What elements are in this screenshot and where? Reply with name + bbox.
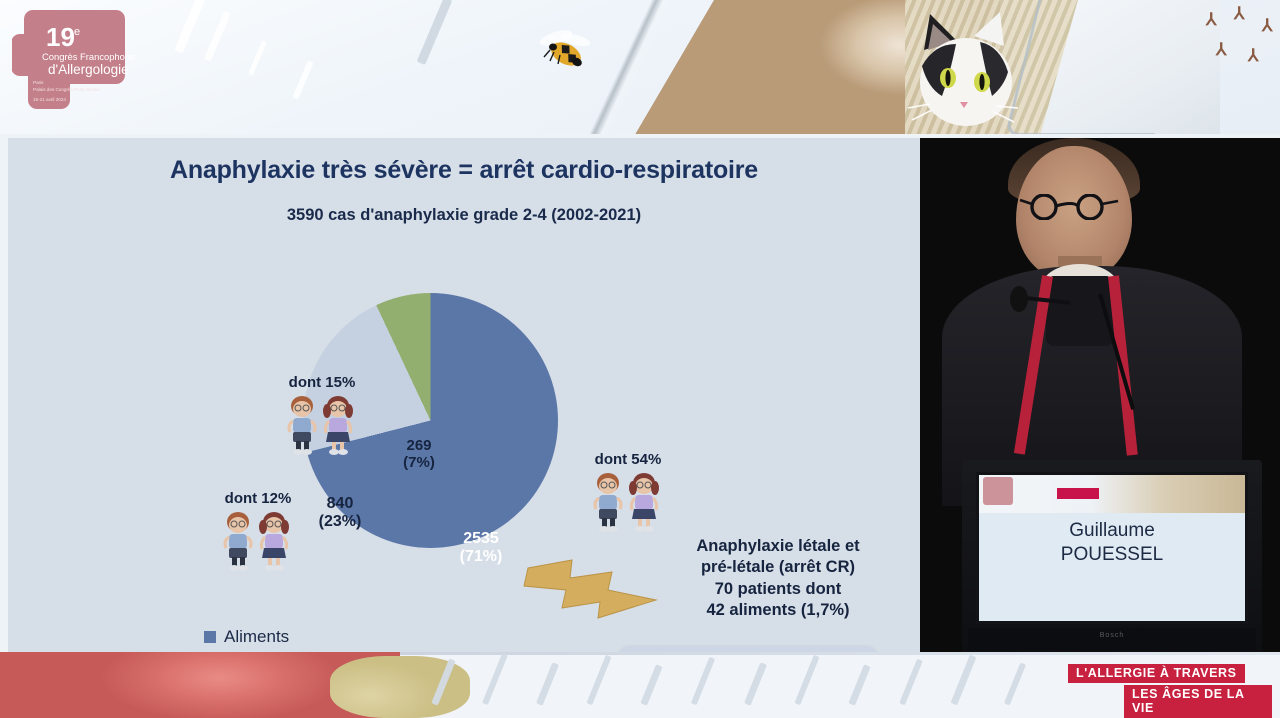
decorative-streak <box>691 657 715 706</box>
legend-swatch-aliments <box>204 631 216 643</box>
badge-line-2: LES ÂGES DE LA VIE <box>1124 685 1272 718</box>
decorative-streak <box>640 664 662 706</box>
death-line-4: 42 aliments (1,7%) <box>648 600 908 621</box>
pie-slice-label-aliments: 2535 (71%) <box>438 530 524 566</box>
podium-screen: Guillaume POUESSEL <box>976 472 1248 624</box>
congress-logo: 19 e Congrès Francophone d'Allergologie … <box>12 6 152 116</box>
decorative-streak <box>431 658 455 705</box>
annotation-label-54: dont 54% <box>576 451 680 468</box>
dust-mite-icon: ⅄ <box>1206 10 1216 30</box>
pie-slice-pct-aliments: (71%) <box>438 548 524 566</box>
annotation-dont-15: dont 15% <box>270 374 374 456</box>
slide-title: Anaphylaxie très sévère = arrêt cardio-r… <box>8 156 920 185</box>
annotation-dont-54: dont 54% <box>576 451 680 533</box>
svg-text:e: e <box>74 26 80 38</box>
microphone-icon <box>1010 286 1028 312</box>
annotation-dont-12: dont 12% <box>206 490 310 572</box>
dust-mite-icon: ⅄ <box>1248 46 1258 66</box>
podium-brand-label: Bosch <box>962 632 1262 639</box>
dust-mite-icon: ⅄ <box>1216 40 1226 60</box>
slide-subtitle: 3590 cas d'anaphylaxie grade 2-4 (2002-2… <box>8 206 920 225</box>
cat-icon <box>900 6 1036 134</box>
boy-icon <box>289 396 315 455</box>
decorative-streak <box>1004 662 1026 705</box>
girl-icon <box>629 473 659 532</box>
svg-text:d'Allergologie: d'Allergologie <box>48 62 129 77</box>
children-icon <box>216 510 300 572</box>
lightning-arrow-icon <box>520 556 660 622</box>
annotation-label-15: dont 15% <box>270 374 374 391</box>
svg-text:18-21 avril 2024: 18-21 avril 2024 <box>33 97 66 102</box>
decorative-streaks <box>420 652 1100 718</box>
speaker-first-name: Guillaume <box>979 519 1245 543</box>
girl-icon <box>259 512 289 571</box>
podium: Guillaume POUESSEL Bosch <box>962 460 1262 652</box>
pie-slice-value-medicaments: 840 <box>304 495 376 513</box>
death-line-2: pré-létale (arrêt CR) <box>648 557 908 578</box>
svg-text:19: 19 <box>46 22 75 52</box>
speaker-video-panel[interactable]: Guillaume POUESSEL Bosch <box>920 138 1280 652</box>
svg-text:Congrès Francophone: Congrès Francophone <box>42 51 135 62</box>
boy-icon <box>225 512 251 571</box>
pie-slice-label-hymenopteres: 269 (7%) <box>390 438 448 472</box>
decorative-streak <box>794 655 819 705</box>
decorative-streak <box>848 664 870 706</box>
dust-mite-icon: ⅄ <box>1234 4 1244 24</box>
pie-slice-label-medicaments: 840 (23%) <box>304 495 376 531</box>
death-line-3: 70 patients dont <box>648 579 908 600</box>
decorative-streak <box>951 655 977 706</box>
decorative-streak <box>899 659 923 706</box>
pie-slice-value-aliments: 2535 <box>438 530 524 548</box>
glasses-icon <box>1018 194 1130 220</box>
decorative-streak <box>536 662 559 705</box>
children-icon <box>280 394 364 456</box>
girl-icon <box>323 396 353 455</box>
legend-label-aliments: Aliments <box>224 627 289 647</box>
pie-slice-pct-hymenopteres: (7%) <box>390 455 448 472</box>
dust-mite-icon: ⅄ <box>1262 16 1272 36</box>
podium-red-chip <box>1057 488 1099 499</box>
annotation-label-12: dont 12% <box>206 490 310 507</box>
decorative-streak <box>744 662 767 705</box>
pie-slice-value-hymenopteres: 269 <box>390 438 448 455</box>
podium-screen-banner <box>979 475 1245 513</box>
badge-line-1: L'ALLERGIE À TRAVERS <box>1068 664 1245 683</box>
pie-slice-pct-medicaments: (23%) <box>304 513 376 531</box>
speaker-name-plate: Guillaume POUESSEL <box>979 519 1245 567</box>
death-line-1: Anaphylaxie létale et <box>648 536 908 557</box>
children-icon <box>586 471 670 533</box>
chart-legend: Aliments Médicaments Hyménoptères <box>204 623 335 652</box>
event-badge: L'ALLERGIE À TRAVERS LES ÂGES DE LA VIE <box>1056 664 1272 718</box>
presentation-slide: Anaphylaxie très sévère = arrêt cardio-r… <box>8 138 920 652</box>
podium-congress-logo <box>983 477 1013 505</box>
top-banner: ⅄ ⅄ ⅄ ⅄ ⅄ 19 e Congrès Francophone d'All… <box>0 0 1280 134</box>
boy-icon <box>595 473 621 532</box>
svg-text:Paris: Paris <box>33 80 44 85</box>
speaker-last-name: POUESSEL <box>979 543 1245 567</box>
decorative-streak <box>586 655 611 705</box>
death-statistics-text: Anaphylaxie létale et pré-létale (arrêt … <box>648 536 908 622</box>
decorative-streak <box>482 653 508 705</box>
svg-text:Palais des Congrès Porte Maill: Palais des Congrès Porte Maillot <box>33 87 100 92</box>
legend-item-aliments: Aliments <box>204 623 335 651</box>
bottom-banner: L'ALLERGIE À TRAVERS LES ÂGES DE LA VIE <box>0 652 1280 718</box>
